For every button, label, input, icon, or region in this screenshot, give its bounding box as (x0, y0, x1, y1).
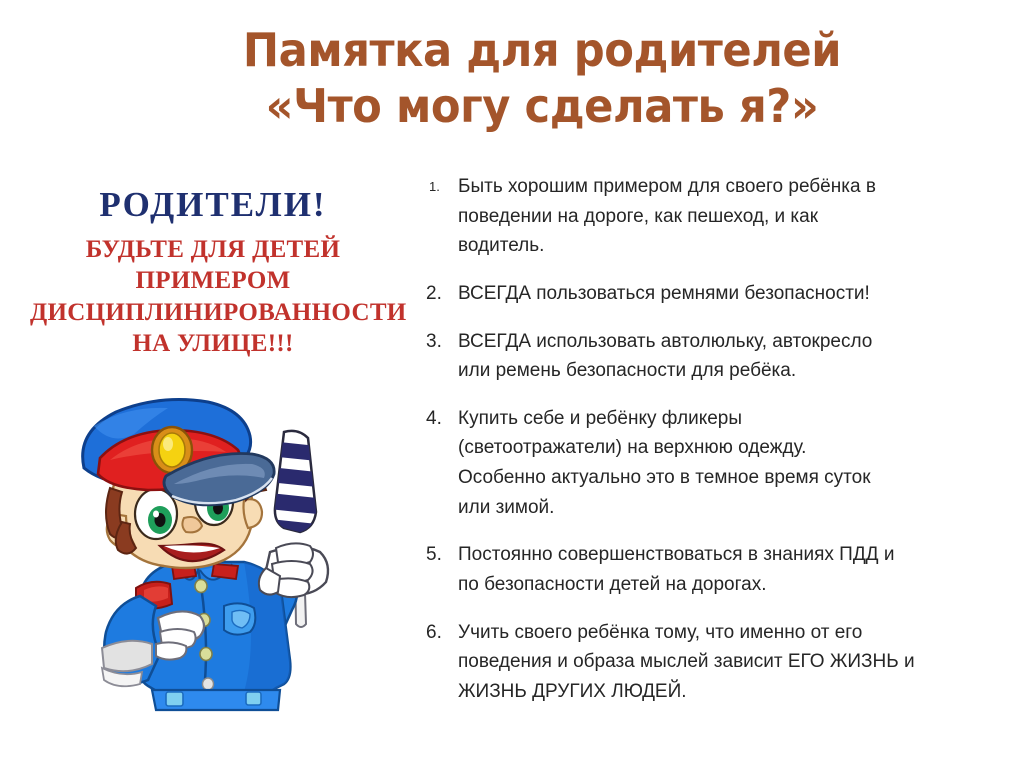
list-item-4-line-1: Купить себе и ребёнку фликеры (458, 404, 998, 434)
poster-line-1: БУДЬТЕ ДЛЯ ДЕТЕЙ (30, 234, 396, 266)
list-item-text: ВСЕГДА пользоваться ремнями безопасности… (458, 279, 998, 309)
list-item-4-line-2: (светоотражатели) на верхнюю одежду. (458, 433, 998, 463)
recommendations-list: 1. Быть хорошим примером для своего ребё… (424, 172, 998, 706)
list-item-4-line-4: или зимой. (458, 493, 998, 523)
list-item-3-line-1: ВСЕГДА использовать автолюльку, автокрес… (458, 327, 998, 357)
list-item-6-line-3: ЖИЗНЬ ДРУГИХ ЛЮДЕЙ. (458, 677, 998, 707)
poster-page: Памятка для родителей «Что могу сделать … (0, 0, 1024, 768)
parents-poster: РОДИТЕЛИ! БУДЬТЕ ДЛЯ ДЕТЕЙ ПРИМЕРОМ ДИСЦ… (30, 186, 396, 360)
poster-body: БУДЬТЕ ДЛЯ ДЕТЕЙ ПРИМЕРОМ ДИСЦИПЛИНИРОВА… (30, 234, 396, 360)
poster-line-3: ДИСЦИПЛИНИРОВАННОСТИ (30, 297, 396, 329)
list-item-4: 4. Купить себе и ребёнку фликеры(светоот… (424, 404, 998, 523)
page-title: Памятка для родителей «Что могу сделать … (0, 22, 1024, 134)
list-item-1-line-3: водитель. (458, 231, 998, 261)
list-item-marker: 1. (424, 172, 458, 197)
list-item-2-line-1: ВСЕГДА пользоваться ремнями безопасности… (458, 279, 998, 309)
list-item-text: ВСЕГДА использовать автолюльку, автокрес… (458, 327, 998, 386)
list-item-marker: 3. (424, 327, 458, 357)
list-item-3-line-2: или ремень безопасности для ребёка. (458, 356, 998, 386)
poster-line-2: ПРИМЕРОМ (30, 265, 396, 297)
list-item-6-line-1: Учить своего ребёнка тому, что именно от… (458, 618, 998, 648)
list-item-4-line-3: Особенно актуально это в темное время су… (458, 463, 998, 493)
poster-line-4: НА УЛИЦЕ!!! (30, 328, 396, 360)
list-item-text: Купить себе и ребёнку фликеры(светоотраж… (458, 404, 998, 523)
list-item-text: Учить своего ребёнка тому, что именно от… (458, 618, 998, 707)
list-item-1: 1. Быть хорошим примером для своего ребё… (424, 172, 998, 261)
list-item-1-line-1: Быть хорошим примером для своего ребёнка… (458, 172, 998, 202)
uniform-belt (152, 690, 280, 710)
list-item-6: 6. Учить своего ребёнка тому, что именно… (424, 618, 998, 707)
list-item-marker: 5. (424, 540, 458, 570)
list-item-marker: 4. (424, 404, 458, 434)
poster-heading: РОДИТЕЛИ! (30, 186, 396, 225)
title-line-1: Памятка для родителей (89, 22, 995, 78)
list-item-5-line-2: по безопасности детей на дорогах. (458, 570, 998, 600)
list-item-5-line-1: Постоянно совершенствоваться в знаниях П… (458, 540, 998, 570)
title-line-2: «Что могу сделать я?» (89, 78, 995, 134)
list-item-marker: 6. (424, 618, 458, 648)
list-item-3: 3. ВСЕГДА использовать автолюльку, авток… (424, 327, 998, 386)
nose (182, 517, 202, 532)
list-item-5: 5. Постоянно совершенствоваться в знания… (424, 540, 998, 599)
list-item-2: 2. ВСЕГДА пользоваться ремнями безопасно… (424, 279, 998, 309)
right-glove (259, 543, 328, 597)
chest-badge (224, 603, 255, 634)
list-item-1-line-2: поведении на дороге, как пешеход, и как (458, 202, 998, 232)
list-item-6-line-2: поведения и образа мыслей зависит ЕГО ЖИ… (458, 647, 998, 677)
list-item-text: Постоянно совершенствоваться в знаниях П… (458, 540, 998, 599)
cartoon-boy-traffic-officer-icon (48, 392, 378, 732)
list-item-text: Быть хорошим примером для своего ребёнка… (458, 172, 998, 261)
list-item-marker: 2. (424, 279, 458, 309)
